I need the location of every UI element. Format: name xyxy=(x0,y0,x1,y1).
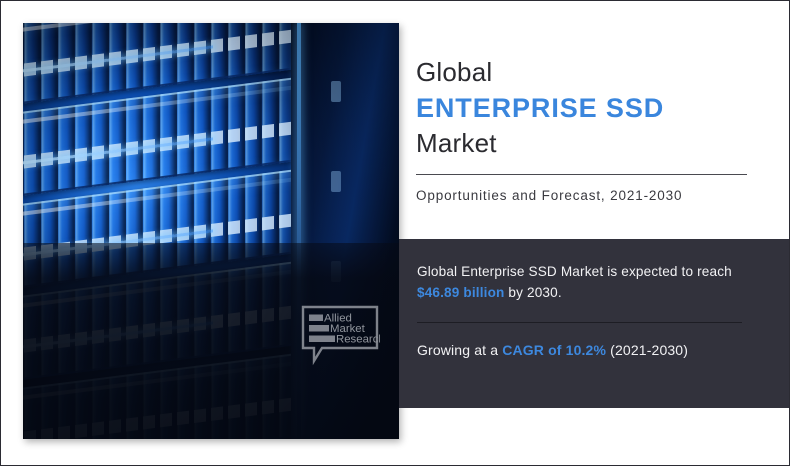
title-subtitle: Opportunities and Forecast, 2021-2030 xyxy=(416,188,751,203)
infographic-card: Allied Market Research Global ENTERPRISE… xyxy=(0,0,790,466)
page-title: ENTERPRISE SSD xyxy=(416,91,751,126)
title-line-market: Market xyxy=(416,127,751,161)
logo-line-3: Research xyxy=(336,333,380,345)
stats-divider xyxy=(417,322,742,323)
enterprise-ssd-server-rack-photo xyxy=(23,23,399,439)
cagr-highlight: CAGR of 10.2% xyxy=(502,342,606,358)
cagr-prefix: Growing at a xyxy=(417,342,502,358)
title-line-global: Global xyxy=(416,56,751,89)
market-value-statement: Global Enterprise SSD Market is expected… xyxy=(417,261,763,304)
market-value-suffix: by 2030. xyxy=(504,285,561,300)
title-block: Global ENTERPRISE SSD Market Opportuniti… xyxy=(416,56,751,203)
stats-panel: Global Enterprise SSD Market is expected… xyxy=(399,239,789,408)
title-divider xyxy=(416,174,747,175)
market-value-highlight: $46.89 billion xyxy=(417,285,504,300)
allied-market-research-logo: Allied Market Research xyxy=(300,304,380,366)
cagr-suffix: (2021-2030) xyxy=(606,342,688,358)
cagr-statement: Growing at a CAGR of 10.2% (2021-2030) xyxy=(417,342,763,358)
market-value-prefix: Global Enterprise SSD Market is expected… xyxy=(417,264,732,279)
